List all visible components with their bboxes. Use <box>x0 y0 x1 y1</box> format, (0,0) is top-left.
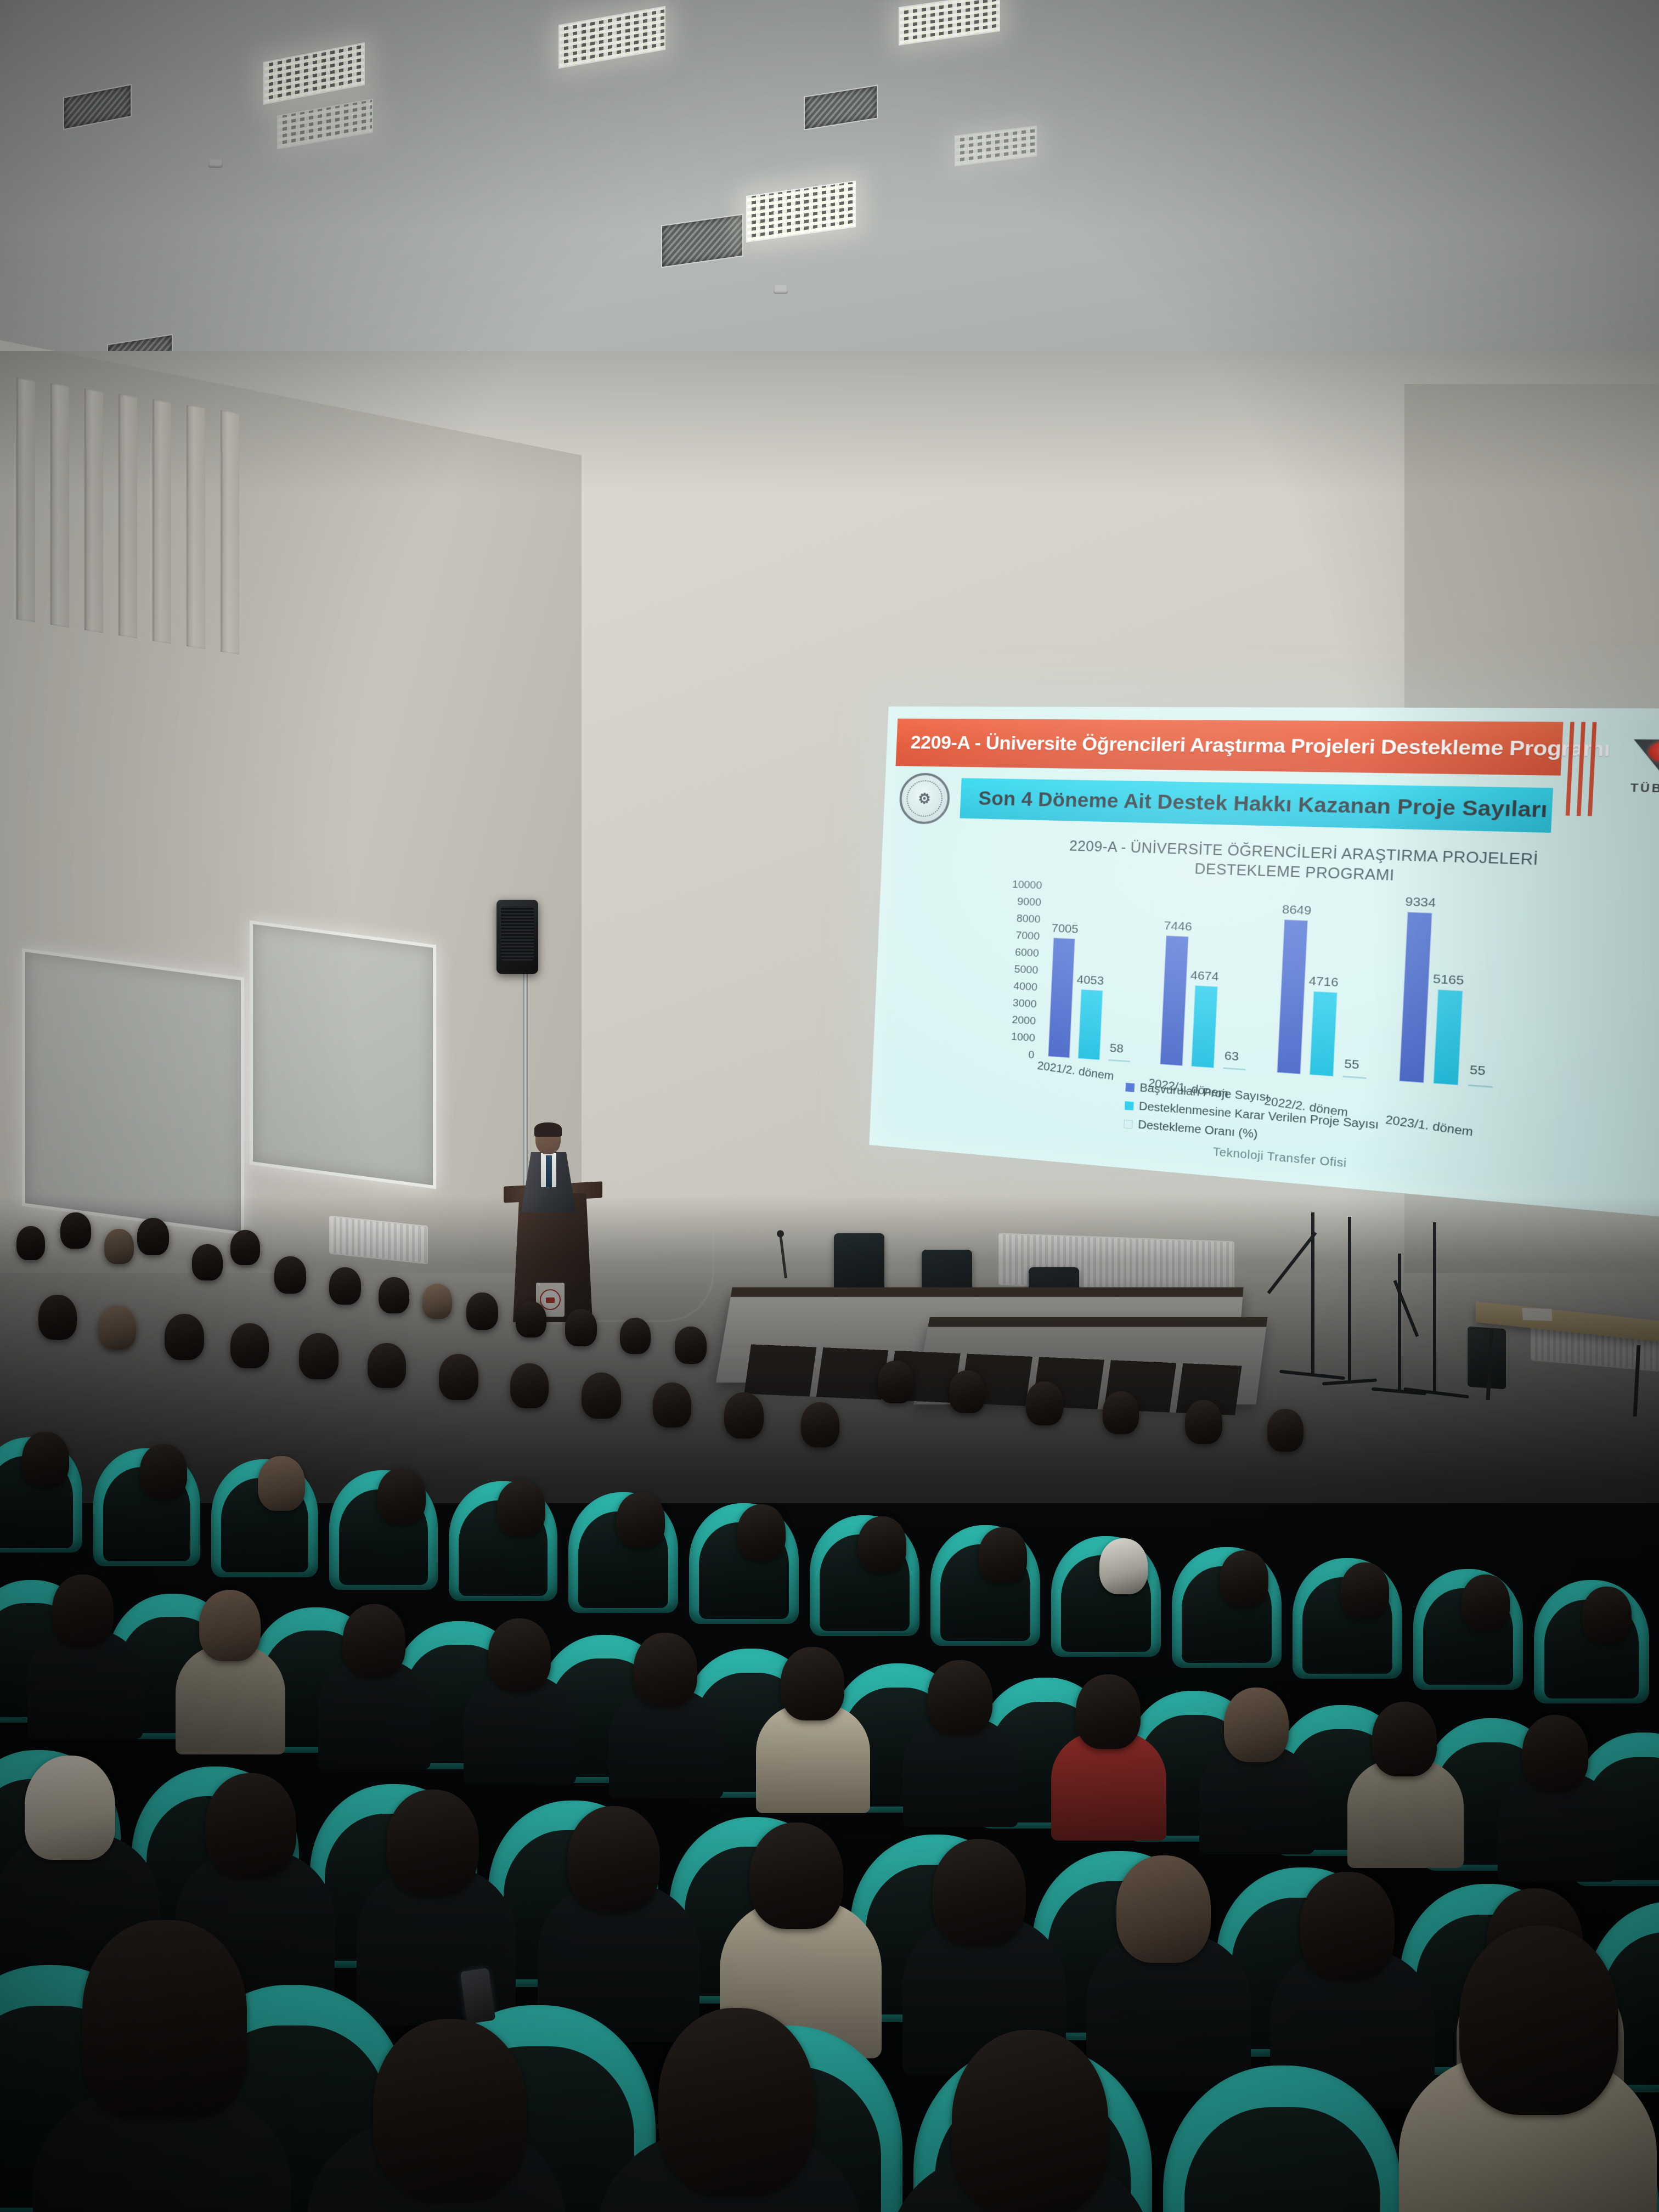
y-tick-label: 4000 <box>1013 980 1038 994</box>
audience-head <box>1372 1702 1437 1776</box>
y-tick-label: 9000 <box>1017 896 1042 909</box>
bar-applied <box>1399 912 1432 1083</box>
slide-subtitle-band: Son 4 Döneme Ait Destek Hakkı Kazanan Pr… <box>960 778 1553 833</box>
bar-value-label: 4716 <box>1308 974 1339 990</box>
whiteboard-right <box>250 921 436 1189</box>
audience-head-with-headscarf <box>25 1756 115 1860</box>
audience-head-foreground <box>373 2019 527 2200</box>
audience-head <box>1267 1409 1304 1452</box>
audience-head <box>422 1284 452 1319</box>
bar-group: 7005 4053 58 2021/2. dönem <box>1045 887 1152 1063</box>
audience-head <box>38 1295 77 1340</box>
bar-supported <box>1078 989 1103 1060</box>
smoke-detector-icon <box>774 285 788 294</box>
audience-head-foreground <box>82 1920 247 2118</box>
projection-screen: 2209-A - Üniversite Öğrencileri Araştırm… <box>869 707 1659 1226</box>
audience-head <box>1341 1562 1389 1618</box>
bar-value-label: 63 <box>1224 1049 1239 1064</box>
audience-head <box>230 1230 260 1265</box>
audience-head <box>568 1806 660 1911</box>
y-tick-label: 8000 <box>1016 913 1041 927</box>
bar-value-label: 4053 <box>1076 973 1104 989</box>
presentation-slide: 2209-A - Üniversite Öğrencileri Araştırm… <box>869 707 1659 1226</box>
audience-head <box>16 1226 45 1260</box>
legend-label: Destekleme Oranı (%) <box>1138 1119 1258 1142</box>
auditorium-photo: 2209-A - Üniversite Öğrencileri Araştırm… <box>0 0 1659 2212</box>
audience-area <box>0 1196 1659 2212</box>
y-tick-label: 6000 <box>1015 946 1040 960</box>
pa-speaker-icon <box>496 900 538 974</box>
audience-head <box>634 1633 697 1706</box>
audience-head <box>1522 1715 1588 1791</box>
audience-head-foreground <box>658 2008 815 2194</box>
bar-value-label: 8649 <box>1282 902 1312 918</box>
audience-head <box>724 1392 764 1438</box>
y-tick-label: 7000 <box>1015 930 1040 944</box>
audience-head <box>137 1218 169 1255</box>
audience-head <box>1116 1855 1211 1963</box>
bar-supported <box>1191 985 1218 1068</box>
tubitak-ellipse-icon <box>1648 741 1659 763</box>
legend-swatch-rate <box>1124 1120 1133 1129</box>
tubitak-logo: TÜBİTAK <box>1611 726 1659 810</box>
audience-head <box>1076 1674 1141 1749</box>
tubitak-wordmark: TÜBİTAK <box>1630 782 1659 796</box>
audience-head <box>165 1314 204 1360</box>
audience-head <box>104 1229 134 1264</box>
wall-slat-panel <box>16 378 302 664</box>
y-tick-label: 5000 <box>1014 963 1039 977</box>
bar-group: 7446 4674 63 2022/1. dönem <box>1156 890 1268 1071</box>
audience-head <box>22 1432 69 1487</box>
audience-head <box>933 1839 1026 1945</box>
y-tick-label: 10000 <box>1012 879 1042 893</box>
y-tick-label: 0 <box>1028 1049 1035 1062</box>
audience-head <box>439 1354 478 1400</box>
audience-head <box>653 1383 691 1427</box>
bar-rate <box>1223 1066 1246 1070</box>
legend-swatch-applied <box>1125 1083 1135 1092</box>
speaker-grill <box>501 906 534 961</box>
audience-head <box>99 1306 136 1350</box>
tubitak-triangle-icon <box>1632 740 1659 780</box>
audience-head <box>230 1323 269 1368</box>
audience-head <box>565 1309 597 1346</box>
audience-head <box>343 1604 405 1677</box>
bar-value-label: 7446 <box>1164 919 1192 934</box>
smoke-detector-icon <box>208 159 223 168</box>
slide-subtitle-text: Son 4 Döneme Ait Destek Hakkı Kazanan Pr… <box>978 787 1548 822</box>
bar-value-label: 7005 <box>1051 922 1079 936</box>
audience-head <box>858 1516 906 1572</box>
bar-rate <box>1342 1075 1367 1079</box>
audience-head <box>737 1504 786 1560</box>
chart-y-axis: 10000 9000 8000 7000 6000 5000 4000 3000… <box>973 884 1042 1056</box>
audience-head <box>949 1370 985 1413</box>
audience-head <box>979 1527 1027 1583</box>
audience-shoulders <box>464 1674 576 1784</box>
audience-head <box>510 1363 549 1408</box>
audience-head <box>140 1444 187 1499</box>
bar-group: 9334 5165 55 2023/1. dönem <box>1395 900 1517 1089</box>
audience-head <box>192 1244 223 1280</box>
audience-head <box>617 1492 665 1548</box>
audience-head <box>387 1790 479 1895</box>
bar-value-label: 55 <box>1344 1057 1360 1073</box>
audience-head <box>206 1773 296 1877</box>
bar-value-label: 4674 <box>1190 969 1219 984</box>
audience-head <box>377 1468 426 1524</box>
audience-head <box>620 1318 651 1354</box>
audience-head <box>274 1256 306 1294</box>
bar-value-label: 55 <box>1469 1063 1486 1079</box>
header-accent-bars <box>1566 722 1598 816</box>
audience-head <box>1220 1550 1268 1606</box>
audience-head <box>1185 1400 1222 1444</box>
audience-head <box>675 1327 707 1364</box>
audience-head <box>199 1590 261 1661</box>
ceiling <box>0 0 1659 384</box>
audience-head <box>801 1402 839 1447</box>
bar-rate <box>1108 1058 1131 1062</box>
university-seal-icon: ⚙ <box>899 772 951 825</box>
audience-head <box>52 1575 114 1646</box>
audience-head <box>781 1647 844 1720</box>
audience-head <box>299 1333 338 1379</box>
audience-head <box>1462 1575 1510 1630</box>
y-tick-label: 1000 <box>1011 1031 1036 1045</box>
audience-head <box>1582 1587 1632 1644</box>
bar-value-label: 9334 <box>1405 895 1436 911</box>
chart-plot-area: 10000 9000 8000 7000 6000 5000 4000 3000… <box>1039 886 1548 1091</box>
bar-rate <box>1468 1084 1493 1088</box>
audience-head <box>379 1277 409 1313</box>
audience-head <box>1026 1381 1063 1425</box>
slide-header-band: 2209-A - Üniversite Öğrencileri Araştırm… <box>896 719 1564 776</box>
presenter-hair <box>534 1122 562 1137</box>
audience-head <box>488 1618 551 1691</box>
audience-shoulders <box>176 1645 285 1754</box>
y-tick-label: 2000 <box>1012 1014 1036 1028</box>
bar-supported <box>1310 991 1338 1077</box>
audience-head <box>878 1361 914 1403</box>
audience-head <box>497 1480 545 1536</box>
audience-shoulders <box>27 1629 143 1739</box>
audience-head <box>516 1301 546 1338</box>
audience-head <box>258 1456 305 1511</box>
audience-head <box>750 1822 843 1929</box>
audience-head <box>1224 1688 1289 1762</box>
slide-header-title: 2209-A - Üniversite Öğrencileri Araştırm… <box>910 732 1611 761</box>
audience-head <box>1300 1872 1395 1979</box>
audience-head <box>582 1373 621 1419</box>
bar-group: 8649 4716 55 2022/2. dönem <box>1273 895 1390 1080</box>
bar-applied <box>1277 919 1308 1074</box>
seal-glyph: ⚙ <box>918 790 932 808</box>
bar-value-label: 58 <box>1109 1041 1124 1056</box>
audience-head <box>368 1343 406 1388</box>
category-label: 2021/2. dönem <box>1036 1059 1114 1084</box>
audience-head <box>1103 1391 1139 1434</box>
audience-head <box>329 1267 361 1305</box>
category-label: 2023/1. dönem <box>1385 1113 1474 1139</box>
whiteboard-left <box>22 948 244 1235</box>
bar-applied <box>1048 938 1075 1058</box>
bar-value-label: 5165 <box>1432 972 1464 989</box>
audience-head <box>466 1293 498 1330</box>
bar-applied <box>1160 935 1189 1066</box>
audience-head <box>928 1660 992 1735</box>
audience-head-foreground <box>952 2030 1108 2212</box>
bar-supported <box>1433 989 1463 1085</box>
audience-head <box>60 1212 91 1249</box>
presenter-tie <box>546 1155 552 1187</box>
y-tick-label: 3000 <box>1012 997 1037 1011</box>
audience-head-foreground <box>1459 1926 1618 2115</box>
legend-swatch-supported <box>1125 1101 1134 1110</box>
audience-head <box>1099 1538 1148 1594</box>
